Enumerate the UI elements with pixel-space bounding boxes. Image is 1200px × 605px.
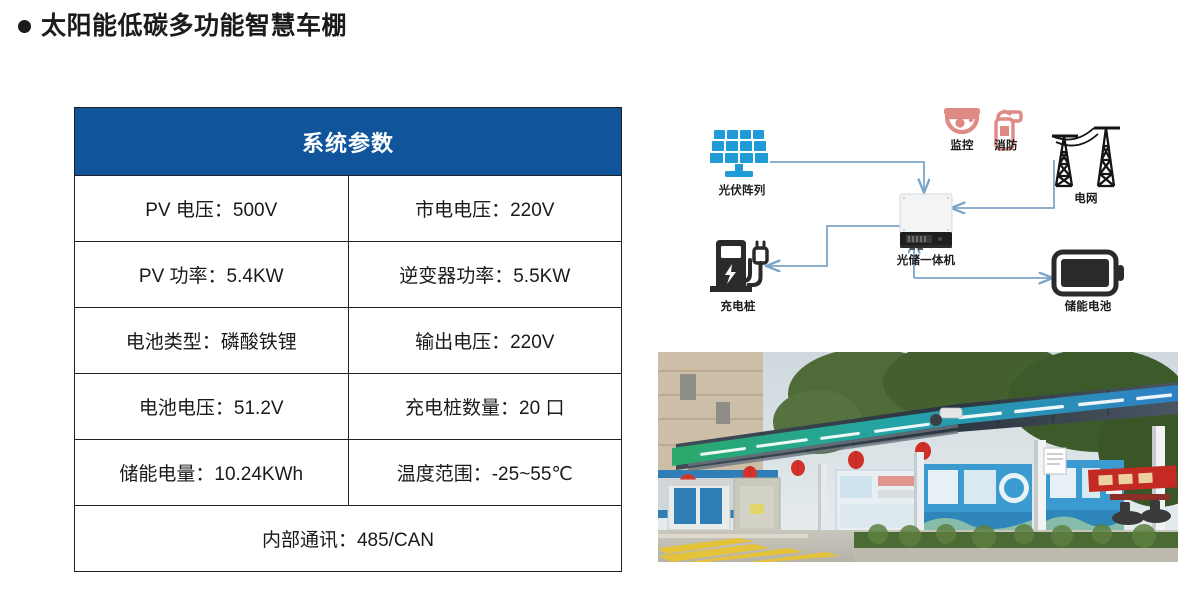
param-pv-power: PV 功率：5.4KW [75,242,349,308]
param-pv-voltage: PV 电压：500V [75,176,349,242]
system-parameters-table: 系统参数 PV 电压：500V 市电电压：220V PV 功率：5.4KW 逆变… [74,107,622,572]
label-pv-array: 光伏阵列 [714,182,770,198]
table-row: PV 电压：500V 市电电压：220V [75,176,622,242]
flow-grid-to-inverter [952,160,1054,208]
param-storage-capacity: 储能电量：10.24KWh [75,440,349,506]
label-inverter: 光储一体机 [888,252,964,268]
table-header-title: 系统参数 [75,108,622,176]
param-battery-voltage: 电池电压：51.2V [75,374,349,440]
param-charger-count: 充电桩数量：20 口 [348,374,622,440]
bullet-icon [18,20,31,33]
photo-illustration [658,352,1178,562]
label-grid: 电网 [1062,190,1110,206]
flow-inverter-to-charger [767,226,900,266]
table-row: 电池类型：磷酸铁锂 输出电压：220V [75,308,622,374]
table-row: PV 功率：5.4KW 逆变器功率：5.5KW [75,242,622,308]
security-camera-icon [944,108,980,132]
label-fire: 消防 [988,137,1024,153]
page-title: 太阳能低碳多功能智慧车棚 [18,14,347,39]
charging-pile-icon [710,240,767,292]
param-battery-type: 电池类型：磷酸铁锂 [75,308,349,374]
param-mains-voltage: 市电电压：220V [348,176,622,242]
table-header-row: 系统参数 [75,108,622,176]
param-temperature-range: 温度范围：-25~55℃ [348,440,622,506]
page-title-text: 太阳能低碳多功能智慧车棚 [41,14,347,39]
table-row: 电池电压：51.2V 充电桩数量：20 口 [75,374,622,440]
solar-panel-icon [710,130,768,177]
label-charger: 充电桩 [712,298,764,314]
label-battery: 储能电池 [1057,298,1119,314]
table-row: 内部通讯：485/CAN [75,506,622,572]
carport-site-photo [658,352,1178,562]
flow-pv-to-inverter [770,162,924,192]
battery-icon [1054,252,1124,294]
table-row: 储能电量：10.24KWh 温度范围：-25~55℃ [75,440,622,506]
hybrid-inverter-icon [900,194,952,250]
label-monitoring: 监控 [944,137,980,153]
power-tower-icon [1052,128,1120,186]
param-inverter-power: 逆变器功率：5.5KW [348,242,622,308]
param-internal-comms: 内部通讯：485/CAN [75,506,622,572]
system-flow-diagram: 光伏阵列 监控 消防 电网 光储一体机 充电桩 储能电池 [652,100,1192,335]
param-output-voltage: 输出电压：220V [348,308,622,374]
